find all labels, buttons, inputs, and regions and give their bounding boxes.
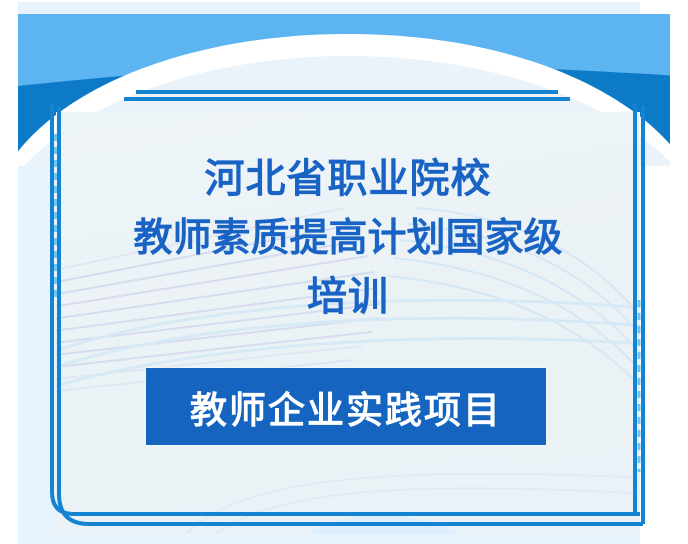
subtitle-banner[interactable]: 教师企业实践项目 xyxy=(146,368,546,445)
title-line-2: 教师素质提高计划国家级 xyxy=(56,209,640,268)
title-line-1: 河北省职业院校 xyxy=(56,150,640,209)
poster-root: 河北省职业院校 教师素质提高计划国家级 培训 教师企业实践项目 xyxy=(0,0,688,544)
title-line-3: 培训 xyxy=(56,268,640,327)
poster-title: 河北省职业院校 教师素质提高计划国家级 培训 xyxy=(56,150,640,327)
subtitle-label: 教师企业实践项目 xyxy=(190,380,502,434)
